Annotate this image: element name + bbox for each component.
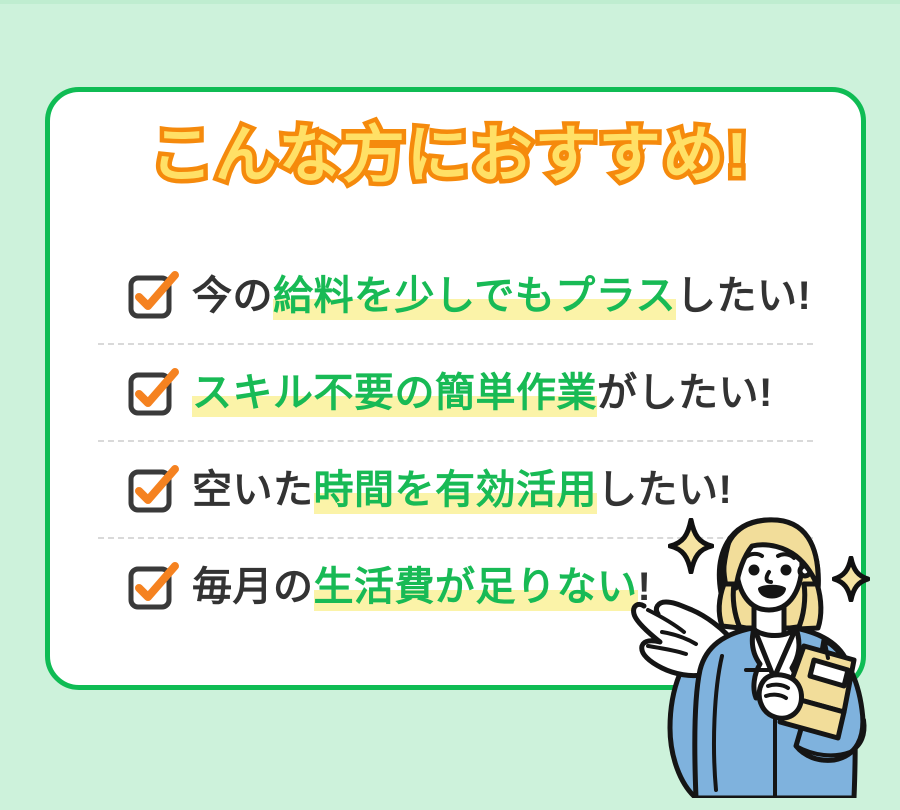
list-item-suffix: がしたい! bbox=[597, 371, 773, 415]
list-item-prefix: 今の bbox=[192, 274, 273, 318]
list-item-prefix: 毎月の bbox=[192, 565, 314, 609]
list-item-prefix: 空いた bbox=[192, 468, 314, 512]
list-item: スキル不要の簡単作業がしたい! bbox=[98, 343, 813, 440]
business-woman-illustration bbox=[618, 498, 900, 798]
promo-banner: こんな方におすすめ! 今の給料を少しでもプラスしたい! スキル不要の簡単作業がし… bbox=[0, 0, 900, 810]
list-item-text: スキル不要の簡単作業がしたい! bbox=[192, 371, 773, 415]
checked-checkbox-icon bbox=[128, 370, 174, 416]
top-band bbox=[0, 0, 900, 4]
page-title: こんな方におすすめ! bbox=[0, 125, 900, 187]
list-item-suffix: したい! bbox=[676, 274, 811, 318]
list-item-emphasis: 生活費が足りない bbox=[314, 565, 638, 611]
checked-checkbox-icon bbox=[128, 467, 174, 513]
list-item-text: 毎月の生活費が足りない! bbox=[192, 565, 651, 609]
list-item: 今の給料を少しでもプラスしたい! bbox=[98, 248, 813, 343]
checked-checkbox-icon bbox=[128, 273, 174, 319]
list-item-emphasis: 給料を少しでもプラス bbox=[273, 274, 676, 320]
list-item-emphasis: スキル不要の簡単作業 bbox=[192, 371, 597, 417]
checked-checkbox-icon bbox=[128, 564, 174, 610]
list-item-text: 今の給料を少しでもプラスしたい! bbox=[192, 274, 811, 318]
list-item-emphasis: 時間を有効活用 bbox=[314, 468, 598, 514]
